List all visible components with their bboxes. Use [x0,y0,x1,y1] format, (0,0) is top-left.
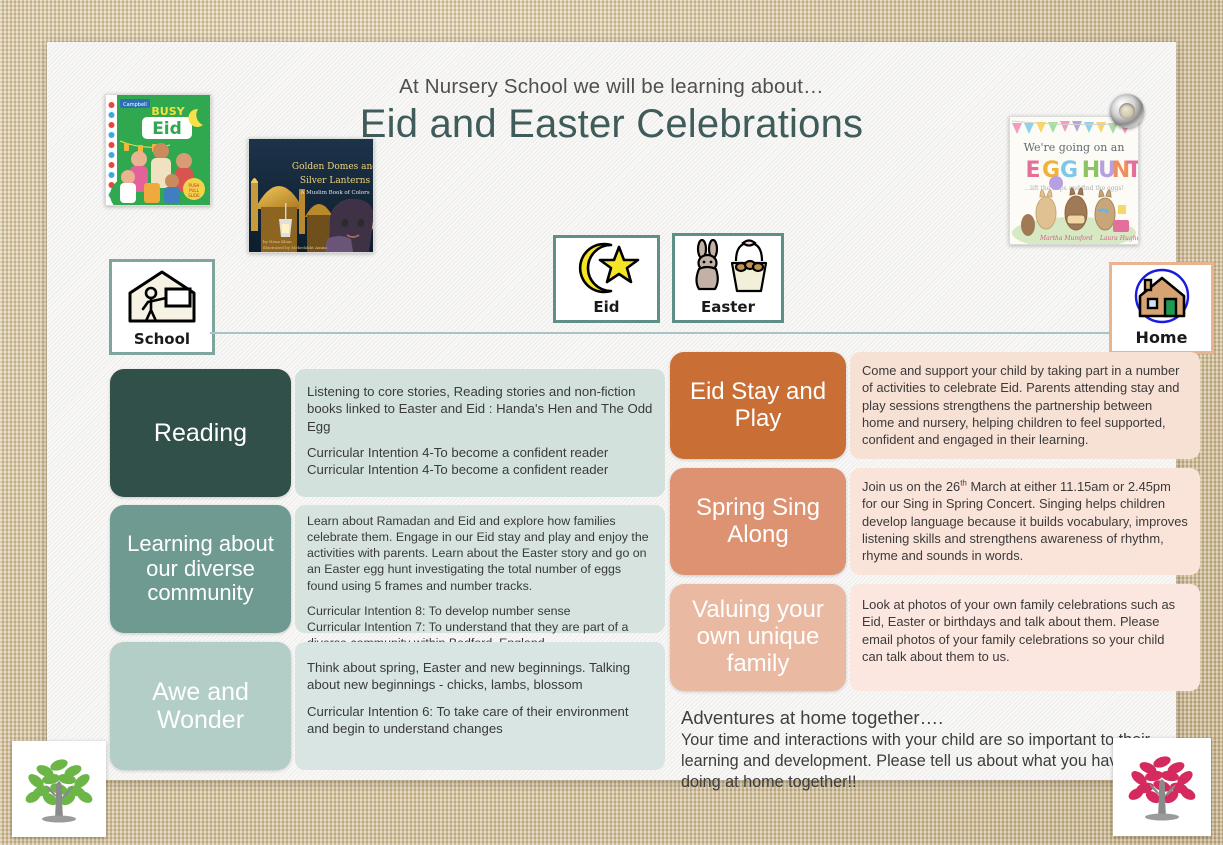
page-title: Eid and Easter Celebrations [47,102,1176,147]
svg-text:Laura Hughes: Laura Hughes [1099,235,1138,242]
home-symbol-label: Home [1136,328,1188,351]
diverse-community-text: Learn about Ramadan and Eid and explore … [307,513,653,594]
reading-intention-1: Curricular Intention 4-To become a confi… [307,444,653,461]
page-subtitle: At Nursery School we will be learning ab… [47,75,1176,99]
easter-symbol-label: Easter [701,298,755,320]
spring-sing-along-body: Join us on the 26th March at either 11.1… [850,468,1200,575]
reading-text: Listening to core stories, Reading stori… [307,383,653,435]
diverse-community-body: Learn about Ramadan and Eid and explore … [295,505,665,633]
home-house-icon [1112,265,1211,328]
spring-sing-along-text: Join us on the 26th March at either 11.1… [862,478,1188,564]
eid-stay-play-label[interactable]: Eid Stay and Play [670,352,846,459]
pink-tree-logo [1113,738,1211,836]
valuing-family-label[interactable]: Valuing your own unique family [670,584,846,691]
reading-intention-2: Curricular Intention 4-To become a confi… [307,461,653,478]
spring-text-superscript: th [960,479,967,488]
eid-symbol-card[interactable]: Eid [553,235,660,323]
valuing-family-body: Look at photos of your own family celebr… [850,584,1200,691]
svg-text:by Hena Khan: by Hena Khan [263,239,292,244]
spring-sing-along-label[interactable]: Spring Sing Along [670,468,846,575]
easter-symbol-card[interactable]: Easter [672,233,784,323]
green-tree-logo [12,741,106,837]
svg-text:Martha Mumford: Martha Mumford [1039,235,1093,242]
svg-text:E: E [1025,158,1040,183]
school-symbol-card[interactable]: School [109,259,215,355]
spring-text-before: Join us on the 26 [862,479,960,494]
svg-text:illustrated by Mehrdokht Amini: illustrated by Mehrdokht Amini [263,245,328,250]
awe-wonder-text: Think about spring, Easter and new begin… [307,659,653,694]
awe-wonder-row: Awe and Wonder Think about spring, Easte… [110,642,665,770]
svg-text:BUSY: BUSY [151,105,185,118]
spring-sing-along-row: Spring Sing Along Join us on the 26th Ma… [670,468,1200,575]
diverse-community-row: Learning about our diverse community Lea… [110,505,665,633]
valuing-family-text: Look at photos of your own family celebr… [862,596,1188,665]
school-house-icon [112,262,212,330]
svg-text:We're going on an: We're going on an [1024,141,1125,154]
home-symbol-card[interactable]: Home [1109,262,1214,354]
bunny-egg-basket-icon [675,236,781,298]
svg-text:Silver Lanterns: Silver Lanterns [300,176,371,186]
busy-eid-book-cover: Campbell BUSY Eid PUSH PULL [105,94,211,206]
svg-text:SLIDE: SLIDE [188,193,200,198]
crescent-moon-star-icon [556,238,657,298]
school-symbol-label: School [134,330,190,352]
reading-label[interactable]: Reading [110,369,291,497]
svg-text:Campbell: Campbell [123,102,147,108]
display-board: At Nursery School we will be learning ab… [47,42,1176,780]
svg-text:T: T [1126,158,1138,183]
diverse-community-intention-1: Curricular Intention 8: To develop numbe… [307,603,653,619]
awe-wonder-intention-1: Curricular Intention 6: To take care of … [307,703,653,738]
awe-wonder-body: Think about spring, Easter and new begin… [295,642,665,770]
eid-stay-play-text: Come and support your child by taking pa… [862,362,1188,448]
reading-body: Listening to core stories, Reading stori… [295,369,665,497]
valuing-family-row: Valuing your own unique family Look at p… [670,584,1200,691]
burlap-background: At Nursery School we will be learning ab… [0,0,1223,845]
svg-text:Eid: Eid [152,119,182,139]
reading-row: Reading Listening to core stories, Readi… [110,369,665,497]
egg-hunt-book-cover: We're going on an EG G HU NT …lift the f… [1009,116,1139,245]
eid-stay-play-body: Come and support your child by taking pa… [850,352,1200,459]
divider-line [210,332,1110,334]
adventures-heading: Adventures at home together…. [681,707,1201,729]
metal-screw-icon [1110,94,1144,128]
svg-text:A Muslim Book of Colors: A Muslim Book of Colors [299,190,369,196]
svg-text:Golden Domes and: Golden Domes and [292,162,373,172]
diverse-community-label[interactable]: Learning about our diverse community [110,505,291,633]
eid-stay-play-row: Eid Stay and Play Come and support your … [670,352,1200,459]
eid-symbol-label: Eid [593,298,619,320]
svg-text:G: G [1060,158,1078,183]
golden-domes-book-cover: Golden Domes and Silver Lanterns A Musli… [248,138,374,253]
awe-wonder-label[interactable]: Awe and Wonder [110,642,291,770]
